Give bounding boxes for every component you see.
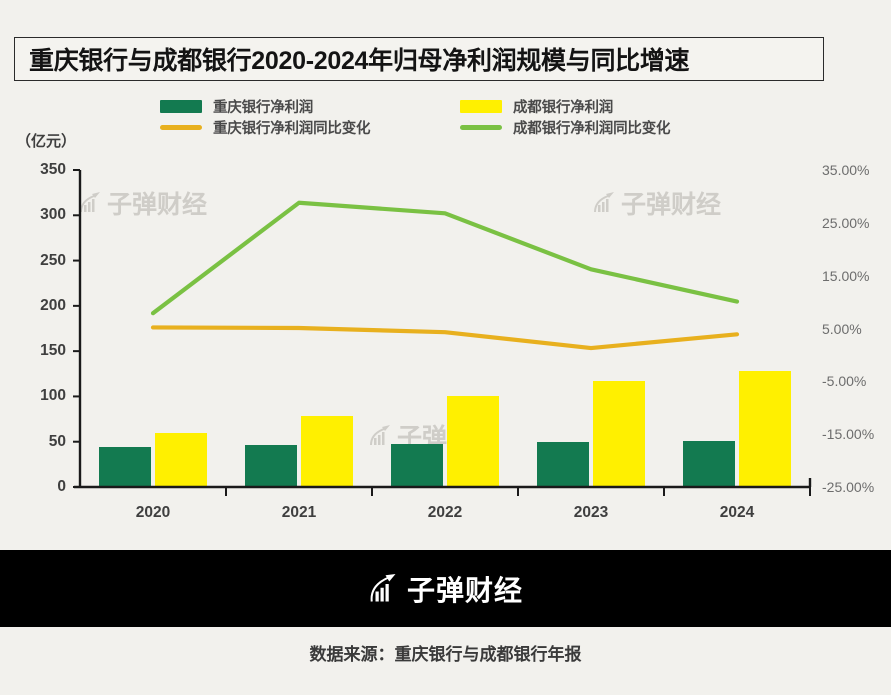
x-axis-tick-label-2022: 2022 (400, 504, 490, 522)
chart-page: 重庆银行与成都银行2020-2024年归母净利润规模与同比增速 重庆银行净利润 … (0, 0, 891, 695)
plot-area: 子弹财经 子弹财经 子弹财经 050100150200250300350-25.… (0, 0, 891, 540)
axes-and-lines (0, 0, 891, 540)
y2-axis-tick-label: 25.00% (822, 215, 891, 231)
y2-axis-tick-label: -15.00% (822, 426, 891, 442)
y-axis-tick-label: 300 (8, 206, 66, 224)
footer-brand-text: 子弹财经 (407, 569, 523, 609)
y2-axis-tick-label: -5.00% (822, 373, 891, 389)
y-axis-tick-label: 0 (8, 478, 66, 496)
y-axis-tick-label: 250 (8, 252, 66, 270)
footer-logo-bar: 子弹财经 (0, 550, 891, 627)
y-axis-tick-label: 200 (8, 297, 66, 315)
y2-axis-tick-label: 15.00% (822, 268, 891, 284)
y2-axis-tick-label: 5.00% (822, 321, 891, 337)
y-axis-tick-label: 150 (8, 342, 66, 360)
y-axis-tick-label: 50 (8, 433, 66, 451)
line-series-cdbank-growth (153, 203, 737, 313)
y-axis-tick-label: 100 (8, 387, 66, 405)
x-axis-tick-label-2021: 2021 (254, 504, 344, 522)
x-axis-tick-label-2024: 2024 (692, 504, 782, 522)
data-source-note: 数据来源：重庆银行与成都银行年报 (0, 640, 891, 665)
bullet-chart-logo-icon (368, 574, 398, 604)
y2-axis-tick-label: 35.00% (822, 162, 891, 178)
line-series-cqbank-growth (153, 327, 737, 348)
y2-axis-tick-label: -25.00% (822, 479, 891, 495)
x-axis-tick-label-2020: 2020 (108, 504, 198, 522)
y-axis-tick-label: 350 (8, 161, 66, 179)
x-axis-tick-label-2023: 2023 (546, 504, 636, 522)
